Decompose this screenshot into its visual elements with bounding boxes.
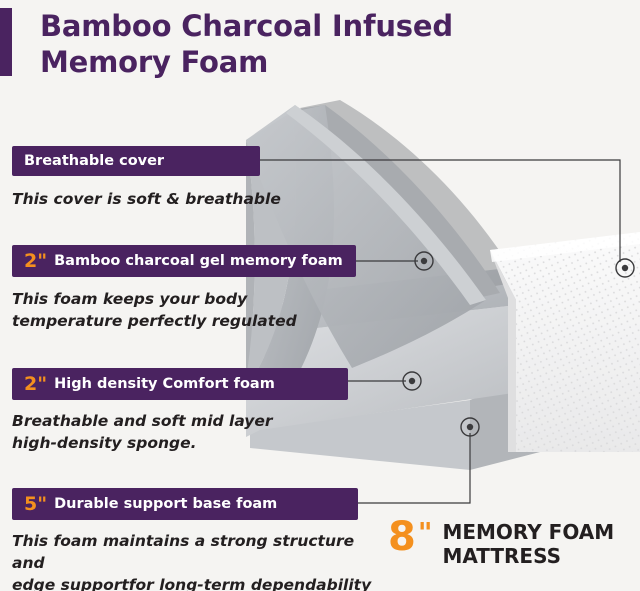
label-durable-support-base: 5" Durable support base foam (12, 488, 358, 520)
thickness-badge: 8 " MEMORY FOAM MATTRESS (388, 518, 618, 568)
page-title-line2: Memory Foam (40, 44, 510, 80)
page-title: Bamboo Charcoal Infused Memory Foam (40, 8, 510, 80)
page-title-line1: Bamboo Charcoal Infused (40, 8, 510, 44)
badge-unit: " (418, 518, 433, 548)
description-breathable-cover: This cover is soft & breathable (12, 188, 312, 210)
badge-number: 8 (388, 518, 416, 556)
label-high-density-comfort-text: High density Comfort foam (54, 377, 275, 392)
description-bamboo-charcoal-gel: This foam keeps your body temperature pe… (12, 288, 302, 332)
label-breathable-cover-text: Breathable cover (24, 154, 164, 169)
label-durable-support-base-text: Durable support base foam (54, 497, 277, 512)
label-breathable-cover: Breathable cover (12, 146, 260, 176)
title-accent-bar (0, 8, 12, 76)
label-bamboo-charcoal-gel-text: Bamboo charcoal gel memory foam (54, 254, 343, 269)
description-high-density-comfort: Breathable and soft mid layer high-densi… (12, 410, 312, 454)
label-durable-support-base-thickness: 5" (24, 495, 47, 514)
badge-product-line2: MATTRESS (442, 544, 561, 568)
badge-product-line1: MEMORY FOAM (442, 520, 614, 544)
label-bamboo-charcoal-gel: 2" Bamboo charcoal gel memory foam (12, 245, 356, 277)
description-durable-support-base: This foam maintains a strong structure a… (12, 530, 372, 591)
label-bamboo-charcoal-gel-thickness: 2" (24, 252, 47, 271)
label-high-density-comfort: 2" High density Comfort foam (12, 368, 348, 400)
infographic-canvas: Bamboo Charcoal Infused Memory Foam Brea… (0, 0, 640, 591)
badge-product-name: MEMORY FOAM MATTRESS (442, 520, 614, 568)
label-high-density-comfort-thickness: 2" (24, 375, 47, 394)
